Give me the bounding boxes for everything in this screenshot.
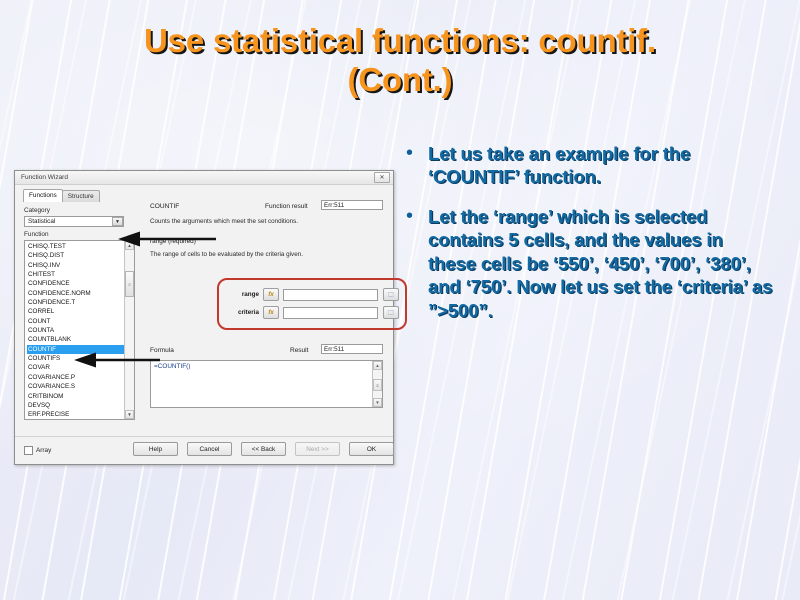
- function-list-item[interactable]: CONFIDENCE.T: [27, 298, 124, 307]
- arrow-pointing-to-category-dropdown: [112, 231, 220, 247]
- argument-description: The range of cells to be evaluated by th…: [150, 251, 382, 258]
- array-checkbox-label: Array: [36, 447, 51, 454]
- criteria-input[interactable]: [283, 307, 378, 319]
- array-checkbox[interactable]: Array: [24, 446, 51, 455]
- dialog-button-row: Help Cancel << Back Next >> OK: [133, 442, 394, 456]
- function-list-item[interactable]: CORREL: [27, 307, 124, 316]
- function-description: Counts the arguments which meet the set …: [150, 218, 382, 225]
- list-item: • Let the ‘range’ which is selected cont…: [406, 205, 774, 322]
- function-list-item[interactable]: CONFIDENCE.NORM: [27, 289, 124, 298]
- list-item: • Let us take an example for the ‘COUNTI…: [406, 142, 774, 189]
- shrink-select-range-icon[interactable]: ⬚: [383, 288, 399, 301]
- category-dropdown[interactable]: Statistical ▼: [24, 216, 124, 227]
- formula-text: =COUNTIF(): [151, 361, 372, 407]
- dialog-body: Functions Structure Category Statistical…: [15, 185, 393, 467]
- range-input[interactable]: [283, 289, 378, 301]
- tab-functions[interactable]: Functions: [23, 189, 63, 202]
- bullet-marker-icon: •: [406, 142, 428, 164]
- function-result-value: Err:511: [321, 200, 383, 210]
- argument-label-range: range: [229, 291, 259, 298]
- help-button[interactable]: Help: [133, 442, 178, 456]
- shrink-select-criteria-icon[interactable]: ⬚: [383, 306, 399, 319]
- dialog-tabs: Functions Structure: [23, 189, 99, 202]
- scroll-up-icon[interactable]: ▲: [373, 361, 382, 370]
- formula-scrollbar[interactable]: ▲ ≡ ▼: [372, 361, 382, 407]
- fx-icon[interactable]: fx: [263, 288, 279, 301]
- slide-title: Use statistical functions: countif. (Con…: [0, 22, 800, 100]
- argument-row-criteria: criteria fx ⬚: [229, 306, 399, 319]
- function-list-item[interactable]: CHITEST: [27, 270, 124, 279]
- category-selected-value: Statistical: [28, 218, 112, 225]
- result-value: Err:511: [321, 344, 383, 354]
- function-listbox[interactable]: CHISQ.TESTCHISQ.DISTCHISQ.INVCHITESTCONF…: [24, 240, 135, 420]
- function-list-item[interactable]: ERF.PRECISE: [27, 410, 124, 419]
- function-list-item[interactable]: COUNTA: [27, 326, 124, 335]
- slide-canvas: Use statistical functions: countif. (Con…: [0, 0, 800, 600]
- fx-icon[interactable]: fx: [263, 306, 279, 319]
- bullet-marker-icon: •: [406, 205, 428, 227]
- function-wizard-dialog: Function Wizard ✕ Functions Structure Ca…: [14, 170, 394, 465]
- function-result-label: Function result: [265, 203, 308, 210]
- scroll-down-icon[interactable]: ▼: [125, 410, 134, 419]
- cancel-button[interactable]: Cancel: [187, 442, 232, 456]
- bullet-text: Let us take an example for the ‘COUNTIF’…: [428, 142, 774, 189]
- ok-button[interactable]: OK: [349, 442, 394, 456]
- dialog-footer: Array Help Cancel << Back Next >> OK: [15, 436, 393, 467]
- function-list-item[interactable]: CONFIDENCE: [27, 279, 124, 288]
- formula-input[interactable]: =COUNTIF() ▲ ≡ ▼: [150, 360, 383, 408]
- tab-structure[interactable]: Structure: [62, 190, 100, 202]
- back-button[interactable]: << Back: [241, 442, 286, 456]
- argument-label-criteria: criteria: [229, 309, 259, 316]
- function-list-item[interactable]: CHISQ.INV: [27, 261, 124, 270]
- function-list-item[interactable]: CHISQ.DIST: [27, 251, 124, 260]
- scroll-down-icon[interactable]: ▼: [373, 398, 382, 407]
- function-list-item[interactable]: CRITBINOM: [27, 392, 124, 401]
- close-icon[interactable]: ✕: [374, 172, 390, 183]
- function-list-item[interactable]: COVARIANCE.S: [27, 382, 124, 391]
- scrollbar-thumb[interactable]: ≡: [125, 271, 134, 297]
- next-button: Next >>: [295, 442, 340, 456]
- function-list-item[interactable]: DEVSQ: [27, 401, 124, 410]
- function-list-item[interactable]: COVARIANCE.P: [27, 373, 124, 382]
- dialog-title: Function Wizard: [21, 174, 374, 181]
- function-list-item[interactable]: CHISQ.TEST: [27, 242, 124, 251]
- function-list-item[interactable]: COUNT: [27, 317, 124, 326]
- checkbox-icon[interactable]: [24, 446, 33, 455]
- bullet-list: • Let us take an example for the ‘COUNTI…: [406, 142, 774, 338]
- function-name-heading: COUNTIF: [150, 203, 179, 210]
- function-label: Function: [24, 231, 49, 238]
- argument-row-range: range fx ⬚: [229, 288, 399, 301]
- dialog-title-bar: Function Wizard ✕: [15, 171, 393, 185]
- function-list-item[interactable]: COUNTBLANK: [27, 335, 124, 344]
- chevron-down-icon[interactable]: ▼: [112, 217, 123, 226]
- arrow-pointing-to-countif-entry: [70, 352, 162, 368]
- scrollbar-thumb[interactable]: ≡: [373, 379, 382, 391]
- category-label: Category: [24, 207, 50, 214]
- function-list-items[interactable]: CHISQ.TESTCHISQ.DISTCHISQ.INVCHITESTCONF…: [25, 241, 124, 419]
- function-list-scrollbar[interactable]: ▲ ≡ ▼: [124, 241, 134, 419]
- argument-fields-highlight-box: range fx ⬚ criteria fx ⬚: [217, 278, 407, 330]
- bullet-text: Let the ‘range’ which is selected contai…: [428, 205, 774, 322]
- result-label: Result: [290, 347, 308, 354]
